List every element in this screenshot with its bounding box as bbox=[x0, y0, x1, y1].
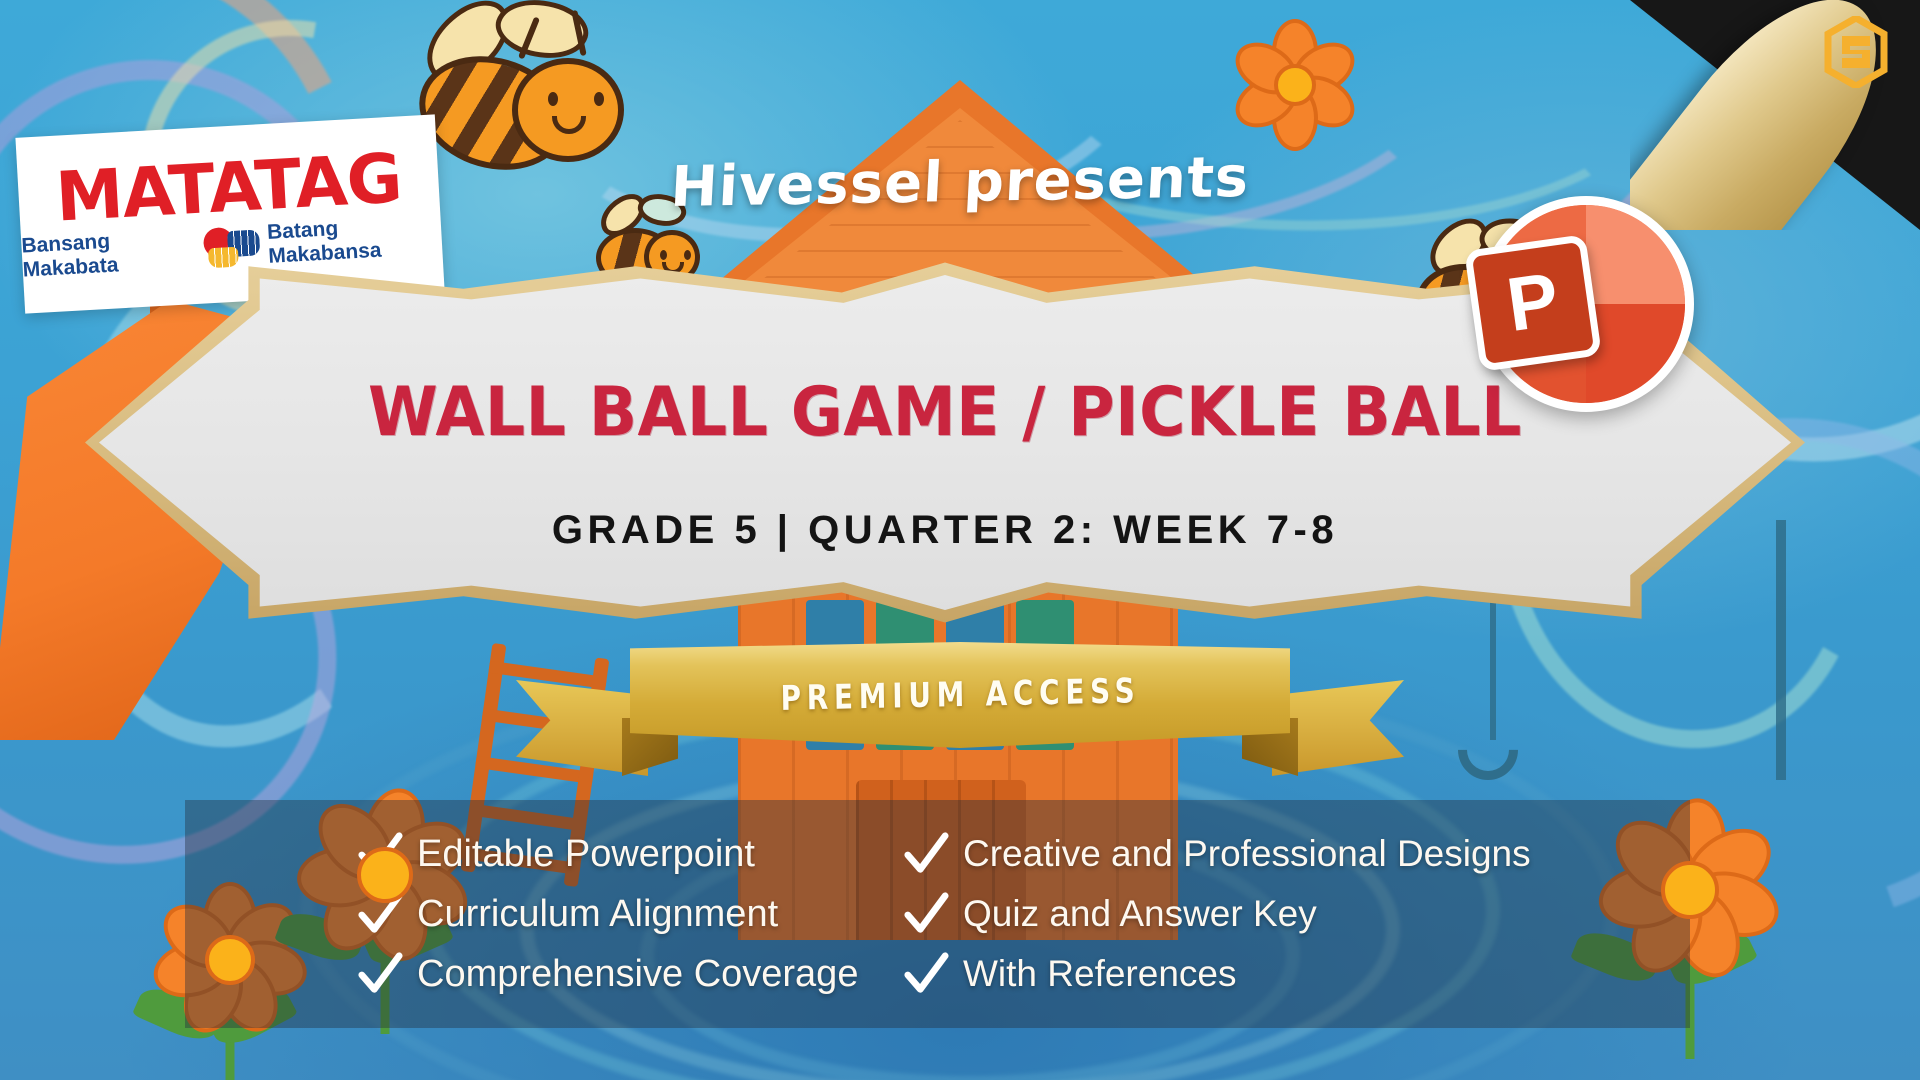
feature-label: Quiz and Answer Key bbox=[963, 893, 1317, 935]
slide-canvas: MATATAG Bansang Makabata Batang Makabans… bbox=[0, 0, 1920, 1080]
feature-label: Comprehensive Coverage bbox=[417, 953, 858, 996]
list-item: Creative and Professional Designs bbox=[903, 831, 1690, 877]
check-icon bbox=[903, 951, 949, 997]
ribbon-label: PREMIUM ACCESS bbox=[780, 671, 1140, 719]
feature-label: Curriculum Alignment bbox=[417, 893, 778, 936]
feature-list-overlay: Editable Powerpoint Curriculum Alignment… bbox=[185, 800, 1690, 1028]
feature-column-left: Editable Powerpoint Curriculum Alignment… bbox=[185, 831, 895, 997]
list-item: Editable Powerpoint bbox=[357, 831, 895, 877]
list-item: Curriculum Alignment bbox=[357, 891, 895, 937]
check-icon bbox=[903, 891, 949, 937]
hive-hexagon-logo-icon bbox=[1824, 16, 1888, 88]
list-item: Comprehensive Coverage bbox=[357, 951, 895, 997]
list-item: Quiz and Answer Key bbox=[903, 891, 1690, 937]
powerpoint-letter-tile: P bbox=[1464, 234, 1602, 372]
feature-label: With References bbox=[963, 953, 1237, 995]
feature-label: Creative and Professional Designs bbox=[963, 833, 1531, 875]
feature-column-right: Creative and Professional Designs Quiz a… bbox=[895, 831, 1690, 997]
ribbon-band: PREMIUM ACCESS bbox=[630, 642, 1290, 748]
check-icon bbox=[903, 831, 949, 877]
banner-subtitle: GRADE 5 | QUARTER 2: WEEK 7-8 bbox=[85, 508, 1805, 553]
list-item: With References bbox=[903, 951, 1690, 997]
feature-label: Editable Powerpoint bbox=[417, 833, 755, 876]
powerpoint-icon: P bbox=[1478, 196, 1694, 412]
check-icon bbox=[357, 951, 403, 997]
powerpoint-letter: P bbox=[1503, 262, 1564, 344]
flower-illustration bbox=[1230, 20, 1360, 150]
premium-access-ribbon: PREMIUM ACCESS bbox=[630, 642, 1290, 772]
